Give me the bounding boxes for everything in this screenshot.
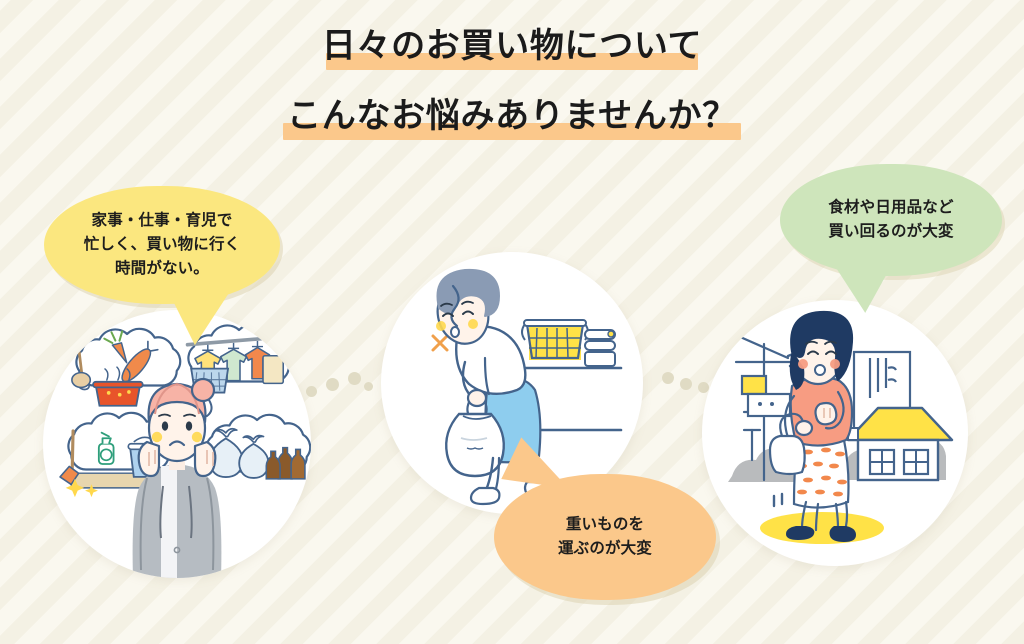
bubble-orange-line-2: 運ぶのが大変: [558, 540, 652, 557]
title-line-2-text: こんなお悩みありませんか？: [287, 97, 737, 135]
title-line-1-text: 日々のお買い物について: [322, 27, 702, 65]
decor-dot: [364, 382, 373, 391]
illustration-circle-outdoor: [702, 300, 968, 566]
bubble-yellow-line-3: 時間がない。: [115, 260, 209, 277]
overwhelmed-woman-illustration: [43, 310, 311, 578]
title-line-2: こんなお悩みありませんか？: [287, 92, 737, 140]
decor-dot: [348, 372, 361, 385]
decor-dot: [662, 372, 674, 384]
decor-dot: [326, 378, 339, 391]
speech-bubble-yellow-tail: [169, 287, 238, 347]
speech-bubble-green-tail: [823, 257, 892, 315]
bubble-yellow-line-2: 忙しく、買い物に行く: [84, 236, 241, 253]
bubble-green-line-1: 食材や日用品など: [828, 199, 953, 216]
page-title: 日々のお買い物について こんなお悩みありませんか？: [0, 22, 1024, 140]
woman-figure: [770, 312, 856, 542]
bubble-green-line-2: 買い回るのが大変: [828, 223, 953, 240]
decor-dot: [680, 378, 692, 390]
illustration-circle-overwhelmed: [43, 310, 311, 578]
speech-bubble-orange-text: 重いものを 運ぶのが大変: [558, 513, 652, 561]
speech-bubble-green: 食材や日用品など 買い回るのが大変: [780, 164, 1002, 276]
tired-outdoor-woman-illustration: [702, 300, 968, 566]
bubble-orange-line-1: 重いものを: [566, 516, 644, 533]
speech-bubble-green-text: 食材や日用品など 買い回るのが大変: [828, 196, 953, 244]
speech-bubble-orange: 重いものを 運ぶのが大変: [494, 474, 716, 600]
speech-bubble-yellow-text: 家事・仕事・育児で 忙しく、買い物に行く 時間がない。: [84, 209, 241, 281]
thought-cloud-trash: [206, 415, 310, 479]
poster-canvas: 日々のお買い物について こんなお悩みありませんか？: [0, 0, 1024, 644]
bubble-yellow-line-1: 家事・仕事・育児で: [92, 212, 233, 229]
speech-bubble-orange-tail: [501, 435, 574, 488]
speech-bubble-yellow: 家事・仕事・育児で 忙しく、買い物に行く 時間がない。: [44, 186, 280, 304]
title-line-1: 日々のお買い物について: [322, 22, 702, 70]
woman-figure: [133, 379, 222, 578]
